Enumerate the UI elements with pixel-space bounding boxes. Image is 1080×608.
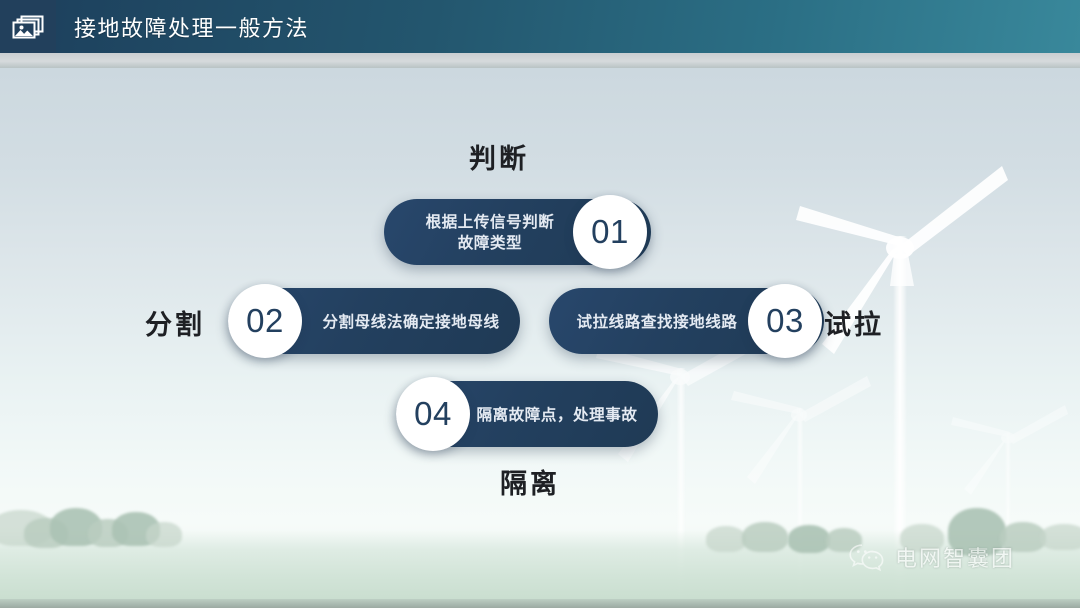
- step-caption-03: 试拉: [824, 303, 884, 342]
- step-number-badge-01[interactable]: 01: [573, 195, 647, 269]
- step-number-badge-03[interactable]: 03: [748, 284, 822, 358]
- tree: [706, 526, 746, 552]
- ground-edge: [0, 599, 1080, 608]
- page-title: 接地故障处理一般方法: [74, 11, 309, 43]
- slide-root: 接地故障处理一般方法 判断 根据上传信号判断 故障类型 01 分割 分割母线法确…: [0, 0, 1080, 608]
- step-text-03: 试拉线路查找接地线路: [567, 311, 747, 332]
- image-stack-icon: [0, 0, 56, 53]
- step-text-04: 隔离故障点，处理事故: [468, 404, 646, 425]
- tree: [742, 522, 788, 552]
- step-number-02: 02: [246, 302, 284, 340]
- step-text-01: 根据上传信号判断 故障类型: [410, 211, 570, 253]
- step-caption-01: 判断: [469, 137, 529, 176]
- step-text-02: 分割母线法确定接地母线: [316, 311, 506, 332]
- tree: [146, 522, 182, 547]
- step-caption-02: 分割: [145, 303, 205, 342]
- tree: [1040, 524, 1080, 550]
- header-bar: 接地故障处理一般方法: [0, 0, 1080, 53]
- step-number-badge-04[interactable]: 04: [396, 377, 470, 451]
- watermark: 电网智囊团: [848, 541, 1015, 573]
- step-number-01: 01: [591, 213, 629, 251]
- step-caption-04: 隔离: [500, 462, 560, 501]
- header-underline: [0, 53, 1080, 68]
- tree: [788, 525, 830, 553]
- watermark-text: 电网智囊团: [895, 541, 1015, 573]
- step-number-badge-02[interactable]: 02: [228, 284, 302, 358]
- step-number-04: 04: [414, 395, 452, 433]
- wechat-icon: [848, 542, 886, 572]
- step-number-03: 03: [766, 302, 804, 340]
